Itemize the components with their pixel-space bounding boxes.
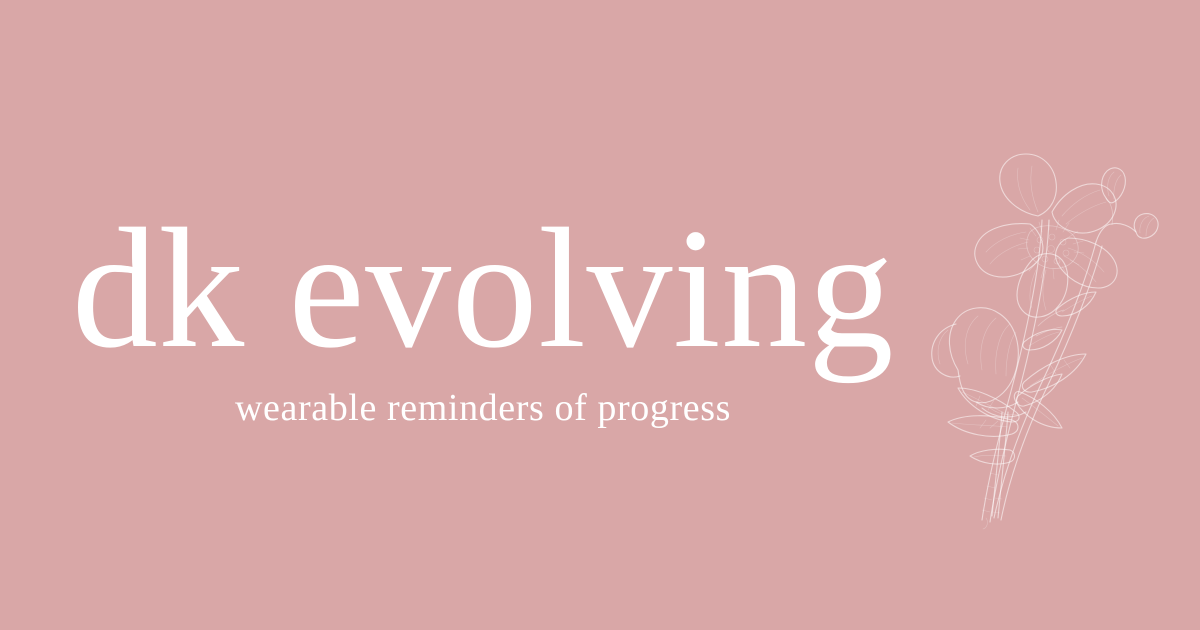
small-bud-right <box>1134 214 1158 239</box>
brand-banner: dk evolving wearable reminders of progre… <box>0 0 1200 630</box>
brand-tagline: wearable reminders of progress <box>235 389 731 427</box>
page-title: dk evolving <box>72 203 894 375</box>
small-bud-upper <box>1102 168 1126 203</box>
bud-stem-group <box>994 198 1136 520</box>
brand-lockup: dk evolving wearable reminders of progre… <box>0 0 1010 630</box>
flower-center <box>1018 220 1084 279</box>
